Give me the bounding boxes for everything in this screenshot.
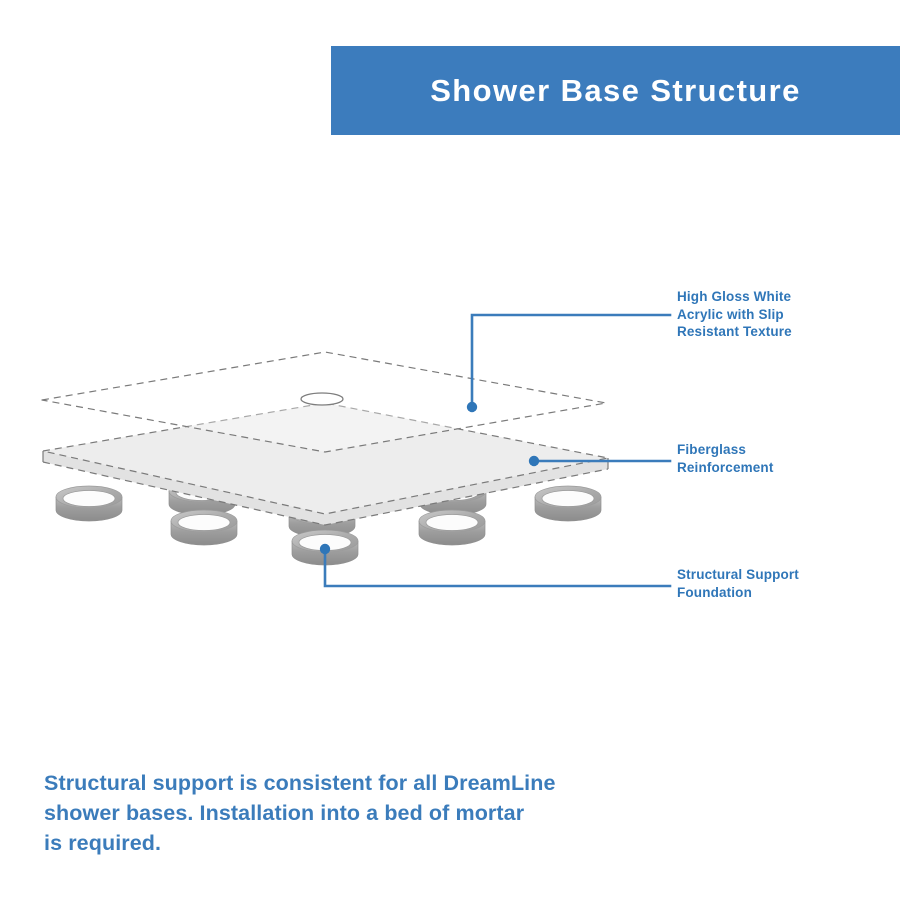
support-ring (420, 480, 486, 515)
support-ring (535, 486, 601, 521)
support-ring (292, 530, 358, 565)
support-ring (171, 510, 237, 545)
drain-hole (301, 393, 343, 405)
support-ring (289, 502, 355, 537)
callout-label-support: Structural Support Foundation (677, 566, 799, 601)
callout-leaders (320, 315, 670, 586)
support-ring-group (56, 480, 601, 565)
fiberglass-layer (43, 403, 608, 525)
leader-line-acrylic (467, 315, 670, 412)
callout-label-acrylic: High Gloss White Acrylic with Slip Resis… (677, 288, 792, 341)
support-ring (56, 486, 122, 521)
callout-dot-support (320, 544, 330, 554)
callout-dot-acrylic (467, 402, 477, 412)
support-ring (169, 480, 235, 515)
callout-label-fiberglass: Fiberglass Reinforcement (677, 441, 773, 476)
page-title: Shower Base Structure (430, 73, 801, 109)
leader-line-fiberglass (529, 456, 670, 466)
diagram-canvas: Shower Base Structure (0, 0, 900, 900)
leader-line-support (320, 544, 670, 586)
acrylic-layer (42, 352, 606, 452)
title-banner: Shower Base Structure (331, 46, 900, 135)
callout-dot-fiberglass (529, 456, 539, 466)
support-ring (419, 510, 485, 545)
footer-caption: Structural support is consistent for all… (44, 768, 644, 858)
